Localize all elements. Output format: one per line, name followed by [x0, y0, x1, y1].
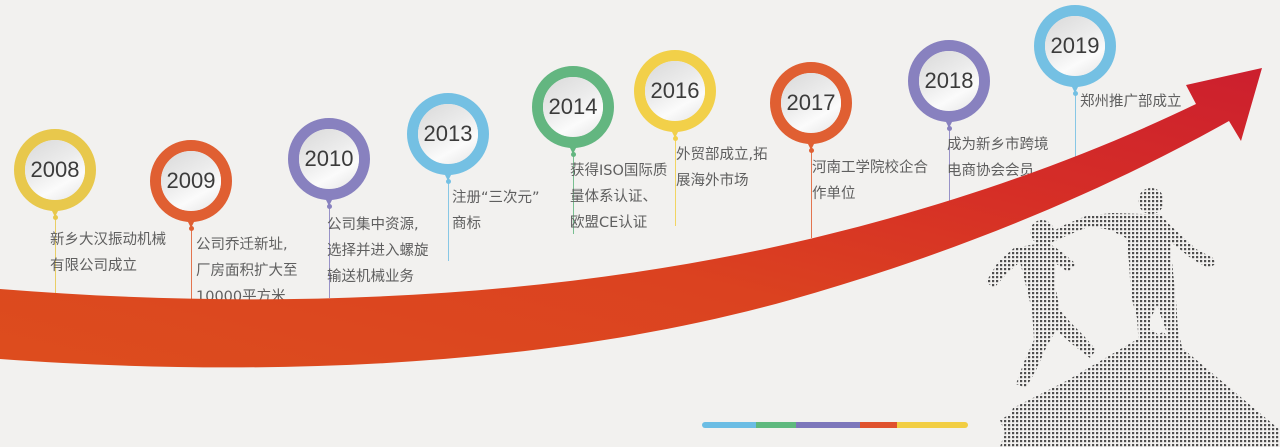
year-pin-2018[interactable]: 2018 [908, 40, 990, 122]
pin-face: 2010 [299, 129, 359, 189]
pin-face: 2016 [645, 61, 705, 121]
timeline-marker-2018[interactable]: 2018 [908, 40, 990, 122]
year-pin-2008[interactable]: 2008 [14, 129, 96, 211]
milestone-description-2008: 新乡大汉振动机械 有限公司成立 [50, 227, 166, 279]
color-bar-segment-2 [796, 422, 860, 428]
color-bar-segment-4 [897, 422, 968, 428]
milestone-description-2019: 郑州推广部成立 [1080, 89, 1182, 115]
pin-tail-icon [46, 199, 64, 217]
legend-color-bar [702, 422, 968, 428]
marker-connector-line [448, 181, 449, 261]
pin-face: 2013 [418, 104, 478, 164]
year-pin-2009[interactable]: 2009 [150, 140, 232, 222]
year-label: 2008 [31, 159, 80, 181]
year-label: 2017 [787, 92, 836, 114]
year-label: 2014 [549, 96, 598, 118]
timeline-marker-2008[interactable]: 2008 [14, 129, 96, 211]
milestone-description-2017: 河南工学院校企合 作单位 [812, 155, 928, 207]
milestone-description-2016: 外贸部成立,拓 展海外市场 [676, 142, 768, 194]
pin-face: 2008 [25, 140, 85, 200]
timeline-infographic: 2008新乡大汉振动机械 有限公司成立2009公司乔迁新址, 厂房面积扩大至 1… [0, 0, 1280, 447]
pin-tail-icon [802, 132, 820, 150]
timeline-marker-2019[interactable]: 2019 [1034, 5, 1116, 87]
pin-tail-icon [439, 163, 457, 181]
pin-tail-icon [320, 188, 338, 206]
color-bar-segment-1 [756, 422, 796, 428]
pin-tail-icon [182, 210, 200, 228]
timeline-marker-2009[interactable]: 2009 [150, 140, 232, 222]
pin-face: 2019 [1045, 16, 1105, 76]
year-label: 2010 [305, 148, 354, 170]
year-pin-2010[interactable]: 2010 [288, 118, 370, 200]
year-label: 2013 [424, 123, 473, 145]
color-bar-segment-0 [702, 422, 756, 428]
pin-face: 2018 [919, 51, 979, 111]
marker-connector-line [191, 228, 192, 320]
pin-tail-icon [666, 120, 684, 138]
marker-connector-line [1075, 93, 1076, 183]
color-bar-segment-3 [860, 422, 898, 428]
year-label: 2009 [167, 170, 216, 192]
year-pin-2017[interactable]: 2017 [770, 62, 852, 144]
year-label: 2018 [925, 70, 974, 92]
milestone-description-2014: 获得ISO国际质 量体系认证、 欧盟CE认证 [570, 158, 667, 236]
year-label: 2016 [651, 80, 700, 102]
timeline-marker-2016[interactable]: 2016 [634, 50, 716, 132]
year-pin-2019[interactable]: 2019 [1034, 5, 1116, 87]
year-label: 2019 [1051, 35, 1100, 57]
pin-tail-icon [564, 136, 582, 154]
timeline-marker-2013[interactable]: 2013 [407, 93, 489, 175]
milestone-description-2013: 注册“三次元” 商标 [452, 185, 540, 237]
timeline-marker-2014[interactable]: 2014 [532, 66, 614, 148]
pin-face: 2014 [543, 77, 603, 137]
year-pin-2016[interactable]: 2016 [634, 50, 716, 132]
pin-face: 2017 [781, 73, 841, 133]
milestone-description-2009: 公司乔迁新址, 厂房面积扩大至 10000平方米 [196, 232, 298, 310]
pin-tail-icon [940, 110, 958, 128]
milestone-description-2018: 成为新乡市跨境 电商协会会员 [947, 132, 1049, 184]
milestone-description-2010: 公司集中资源, 选择并进入螺旋 输送机械业务 [327, 212, 429, 290]
pin-face: 2009 [161, 151, 221, 211]
timeline-marker-2017[interactable]: 2017 [770, 62, 852, 144]
year-pin-2014[interactable]: 2014 [532, 66, 614, 148]
year-pin-2013[interactable]: 2013 [407, 93, 489, 175]
timeline-marker-2010[interactable]: 2010 [288, 118, 370, 200]
pin-tail-icon [1066, 75, 1084, 93]
